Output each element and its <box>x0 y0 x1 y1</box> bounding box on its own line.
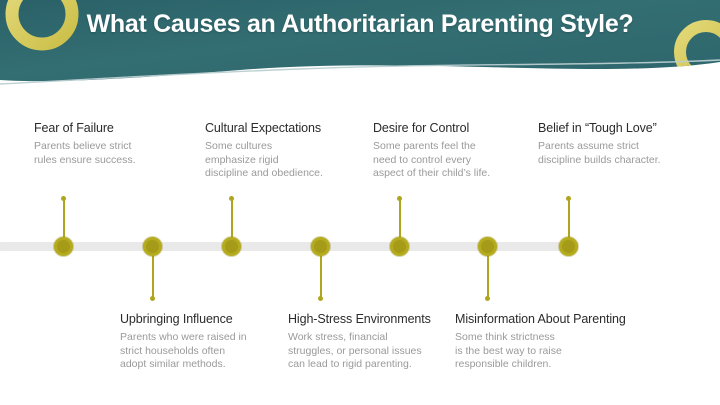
timeline-dot-4[interactable] <box>311 237 330 256</box>
item-desc-2: Parents who were raised in strict househ… <box>120 331 295 372</box>
item-text-1: Fear of Failure Parents believe strict r… <box>34 121 199 167</box>
item-desc-line: Some parents feel the <box>373 140 548 154</box>
item-desc-4: Work stress, financial struggles, or per… <box>288 331 473 372</box>
item-text-3: Cultural Expectations Some cultures emph… <box>205 121 380 181</box>
timeline-dot-2[interactable] <box>143 237 162 256</box>
item-text-7: Belief in “Tough Love” Parents assume st… <box>538 121 718 167</box>
item-desc-line: responsible children. <box>455 358 655 372</box>
item-desc-line: discipline builds character. <box>538 154 718 168</box>
item-desc-line: emphasize rigid <box>205 154 380 168</box>
item-desc-3: Some cultures emphasize rigid discipline… <box>205 140 380 181</box>
item-desc-6: Some think strictness is the best way to… <box>455 331 655 372</box>
timeline-dot-3[interactable] <box>222 237 241 256</box>
item-desc-line: Parents believe strict <box>34 140 199 154</box>
item-title-3: Cultural Expectations <box>205 121 380 136</box>
timeline-dot-6[interactable] <box>478 237 497 256</box>
item-title-7: Belief in “Tough Love” <box>538 121 718 136</box>
item-desc-line: Parents who were raised in <box>120 331 295 345</box>
item-desc-line: rules ensure success. <box>34 154 199 168</box>
item-desc-line: discipline and obedience. <box>205 167 380 181</box>
item-text-4: High-Stress Environments Work stress, fi… <box>288 312 473 372</box>
timeline-dot-7[interactable] <box>559 237 578 256</box>
item-title-4: High-Stress Environments <box>288 312 473 327</box>
item-desc-line: can lead to rigid parenting. <box>288 358 473 372</box>
item-title-6: Misinformation About Parenting <box>455 312 655 327</box>
item-text-2: Upbringing Influence Parents who were ra… <box>120 312 295 372</box>
stem-6 <box>487 254 489 298</box>
infographic-slide: What Causes an Authoritarian Parenting S… <box>0 0 720 405</box>
stem-cap-4 <box>318 296 323 301</box>
item-desc-line: Some cultures <box>205 140 380 154</box>
item-desc-line: adopt similar methods. <box>120 358 295 372</box>
item-desc-line: Work stress, financial <box>288 331 473 345</box>
stem-cap-6 <box>485 296 490 301</box>
item-text-5: Desire for Control Some parents feel the… <box>373 121 548 181</box>
item-desc-line: Some think strictness <box>455 331 655 345</box>
item-desc-1: Parents believe strict rules ensure succ… <box>34 140 199 167</box>
timeline-dot-5[interactable] <box>390 237 409 256</box>
item-desc-line: strict households often <box>120 345 295 359</box>
item-title-2: Upbringing Influence <box>120 312 295 327</box>
item-title-1: Fear of Failure <box>34 121 199 136</box>
item-text-6: Misinformation About Parenting Some thin… <box>455 312 655 372</box>
item-desc-line: struggles, or personal issues <box>288 345 473 359</box>
item-desc-line: is the best way to raise <box>455 345 655 359</box>
timeline-dot-1[interactable] <box>54 237 73 256</box>
header-banner: What Causes an Authoritarian Parenting S… <box>0 0 720 92</box>
stem-cap-2 <box>150 296 155 301</box>
item-desc-line: aspect of their child’s life. <box>373 167 548 181</box>
item-desc-line: need to control every <box>373 154 548 168</box>
item-title-5: Desire for Control <box>373 121 548 136</box>
page-title: What Causes an Authoritarian Parenting S… <box>0 10 720 39</box>
stem-2 <box>152 254 154 298</box>
item-desc-line: Parents assume strict <box>538 140 718 154</box>
item-desc-5: Some parents feel the need to control ev… <box>373 140 548 181</box>
stem-4 <box>320 254 322 298</box>
item-desc-7: Parents assume strict discipline builds … <box>538 140 718 167</box>
